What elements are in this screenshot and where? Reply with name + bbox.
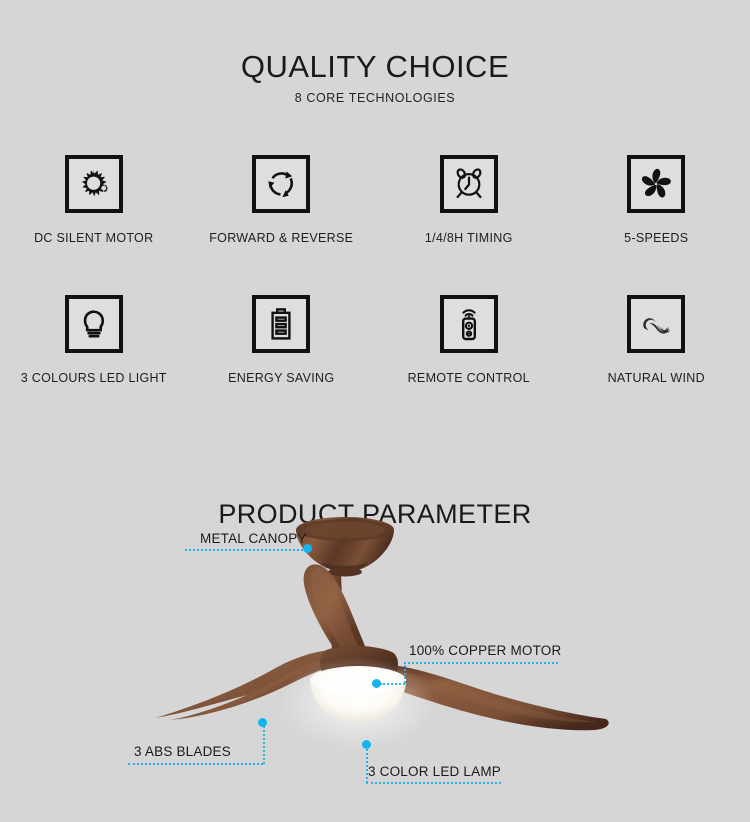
callout-abs-blades-line-vertical xyxy=(263,726,265,764)
callout-led-lamp-label: 3 COLOR LED LAMP xyxy=(368,764,501,779)
battery-icon xyxy=(252,295,310,353)
product-parameter-section: PRODUCT PARAMETER xyxy=(0,455,750,822)
feature-label: 1/4/8H TIMING xyxy=(425,231,513,245)
callout-abs-blades-label: 3 ABS BLADES xyxy=(134,744,231,759)
callout-led-lamp-line xyxy=(366,782,501,784)
page-title: QUALITY CHOICE xyxy=(0,49,750,85)
feature-label: 3 COLOURS LED LIGHT xyxy=(21,371,167,385)
fan-blades-icon xyxy=(627,155,685,213)
callout-copper-motor-marker xyxy=(372,679,381,688)
feature-energy-saving: ENERGY SAVING xyxy=(188,295,376,435)
callout-led-lamp-marker xyxy=(362,740,371,749)
feature-timing: 1/4/8H TIMING xyxy=(375,155,563,295)
callout-metal-canopy-label: METAL CANOPY xyxy=(200,531,307,546)
callout-abs-blades-line xyxy=(128,763,263,765)
feature-grid: DC SILENT MOTOR xyxy=(0,155,750,435)
feature-row: 3 COLOURS LED LIGHT ENERGY SAVING xyxy=(0,295,750,435)
wind-swirl-icon xyxy=(627,295,685,353)
feature-forward-reverse: FORWARD & REVERSE xyxy=(188,155,376,295)
alarm-clock-icon xyxy=(440,155,498,213)
feature-label: REMOTE CONTROL xyxy=(408,371,530,385)
feature-label: DC SILENT MOTOR xyxy=(34,231,153,245)
callout-metal-canopy-marker xyxy=(303,544,312,553)
callout-metal-canopy-line xyxy=(185,549,307,551)
callout-led-lamp-line-vertical xyxy=(366,745,368,783)
feature-natural-wind: NATURAL WIND xyxy=(563,295,750,435)
feature-label: FORWARD & REVERSE xyxy=(209,231,353,245)
callout-copper-motor-line-vertical xyxy=(404,662,406,683)
callout-abs-blades-marker xyxy=(258,718,267,727)
recycle-arrows-icon xyxy=(252,155,310,213)
feature-speeds: 5-SPEEDS xyxy=(563,155,750,295)
feature-label: NATURAL WIND xyxy=(608,371,705,385)
remote-control-icon xyxy=(440,295,498,353)
feature-dc-silent-motor: DC SILENT MOTOR xyxy=(0,155,188,295)
lightbulb-icon xyxy=(65,295,123,353)
callout-copper-motor-line-bottom xyxy=(380,683,405,685)
quality-choice-section: QUALITY CHOICE 8 CORE TECHNOLOGIES DC SI… xyxy=(0,0,750,455)
gear-icon xyxy=(65,155,123,213)
feature-label: 5-SPEEDS xyxy=(624,231,688,245)
feature-remote-control: REMOTE CONTROL xyxy=(375,295,563,435)
feature-row: DC SILENT MOTOR xyxy=(0,155,750,295)
feature-label: ENERGY SAVING xyxy=(228,371,334,385)
callout-copper-motor-line-top xyxy=(404,662,558,664)
callout-copper-motor-label: 100% COPPER MOTOR xyxy=(409,643,561,658)
feature-led-light: 3 COLOURS LED LIGHT xyxy=(0,295,188,435)
page-subtitle: 8 CORE TECHNOLOGIES xyxy=(0,91,750,105)
